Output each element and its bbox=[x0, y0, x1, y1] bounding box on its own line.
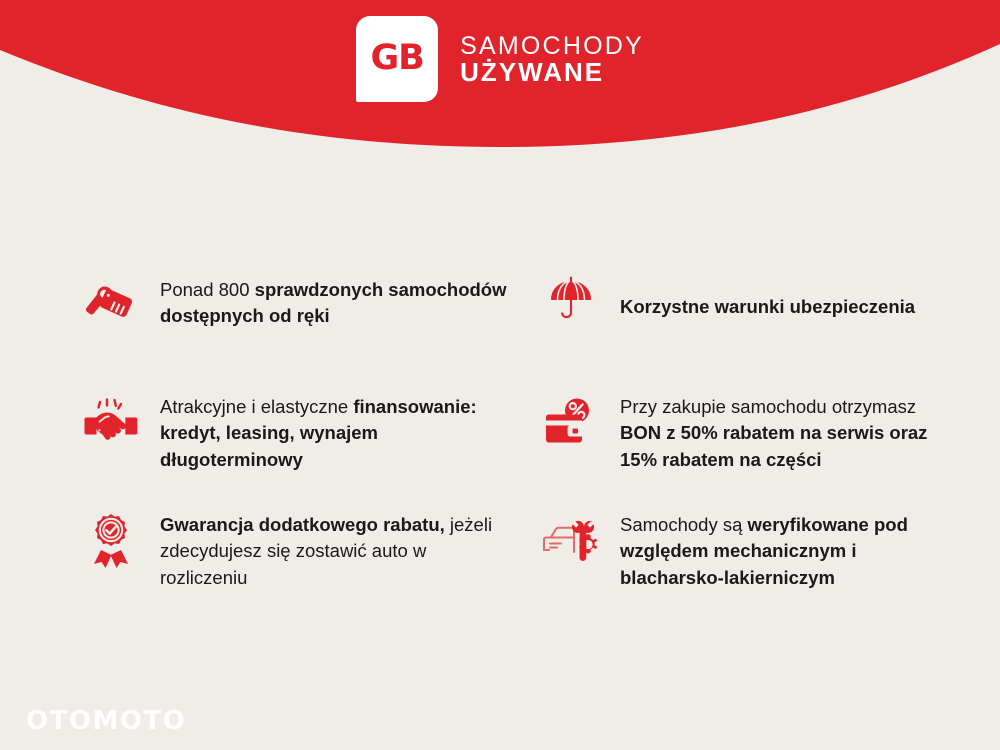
brand-title-line1: SAMOCHODY bbox=[460, 33, 644, 59]
feature-text-financing: Atrakcyjne i elastyczne finansowanie: kr… bbox=[160, 386, 510, 473]
feature-item-voucher: Przy zakupie samochodu otrzymasz BON z 5… bbox=[540, 386, 1000, 504]
brand-wordmark: SAMOCHODY UŻYWANE bbox=[460, 33, 644, 86]
feature-text-tradein-discount: Gwarancja dodatkowego rabatu, jeżeli zde… bbox=[160, 504, 510, 591]
feature-text-voucher: Przy zakupie samochodu otrzymasz BON z 5… bbox=[620, 386, 960, 473]
car-wrench-gear-icon bbox=[540, 510, 602, 572]
otomoto-watermark: OTOMOTO bbox=[26, 706, 186, 736]
handshake-icon bbox=[80, 392, 142, 454]
feature-list: Ponad 800 sprawdzonych samochodów dostęp… bbox=[0, 268, 1000, 622]
brand-lockup: GB SAMOCHODY UŻYWANE bbox=[0, 0, 1000, 118]
feature-text-verified: Samochody są weryfikowane pod względem m… bbox=[620, 504, 960, 591]
feature-item-insurance: Korzystne warunki ubezpieczenia bbox=[540, 268, 1000, 386]
umbrella-icon bbox=[540, 268, 602, 330]
feature-item-cars-available: Ponad 800 sprawdzonych samochodów dostęp… bbox=[80, 268, 530, 386]
brand-title-line2: UŻYWANE bbox=[460, 59, 644, 86]
feature-text-insurance: Korzystne warunki ubezpieczenia bbox=[620, 268, 915, 320]
feature-item-verified: Samochody są weryfikowane pod względem m… bbox=[540, 504, 1000, 622]
feature-text-cars-available: Ponad 800 sprawdzonych samochodów dostęp… bbox=[160, 268, 510, 330]
wallet-percent-icon bbox=[540, 392, 602, 454]
car-key-icon bbox=[80, 274, 142, 336]
feature-item-tradein-discount: Gwarancja dodatkowego rabatu, jeżeli zde… bbox=[80, 504, 530, 622]
gb-logo-mark: GB bbox=[356, 16, 438, 102]
feature-item-financing: Atrakcyjne i elastyczne finansowanie: kr… bbox=[80, 386, 530, 504]
award-rosette-icon bbox=[80, 510, 142, 572]
gb-logo-text: GB bbox=[370, 41, 423, 76]
